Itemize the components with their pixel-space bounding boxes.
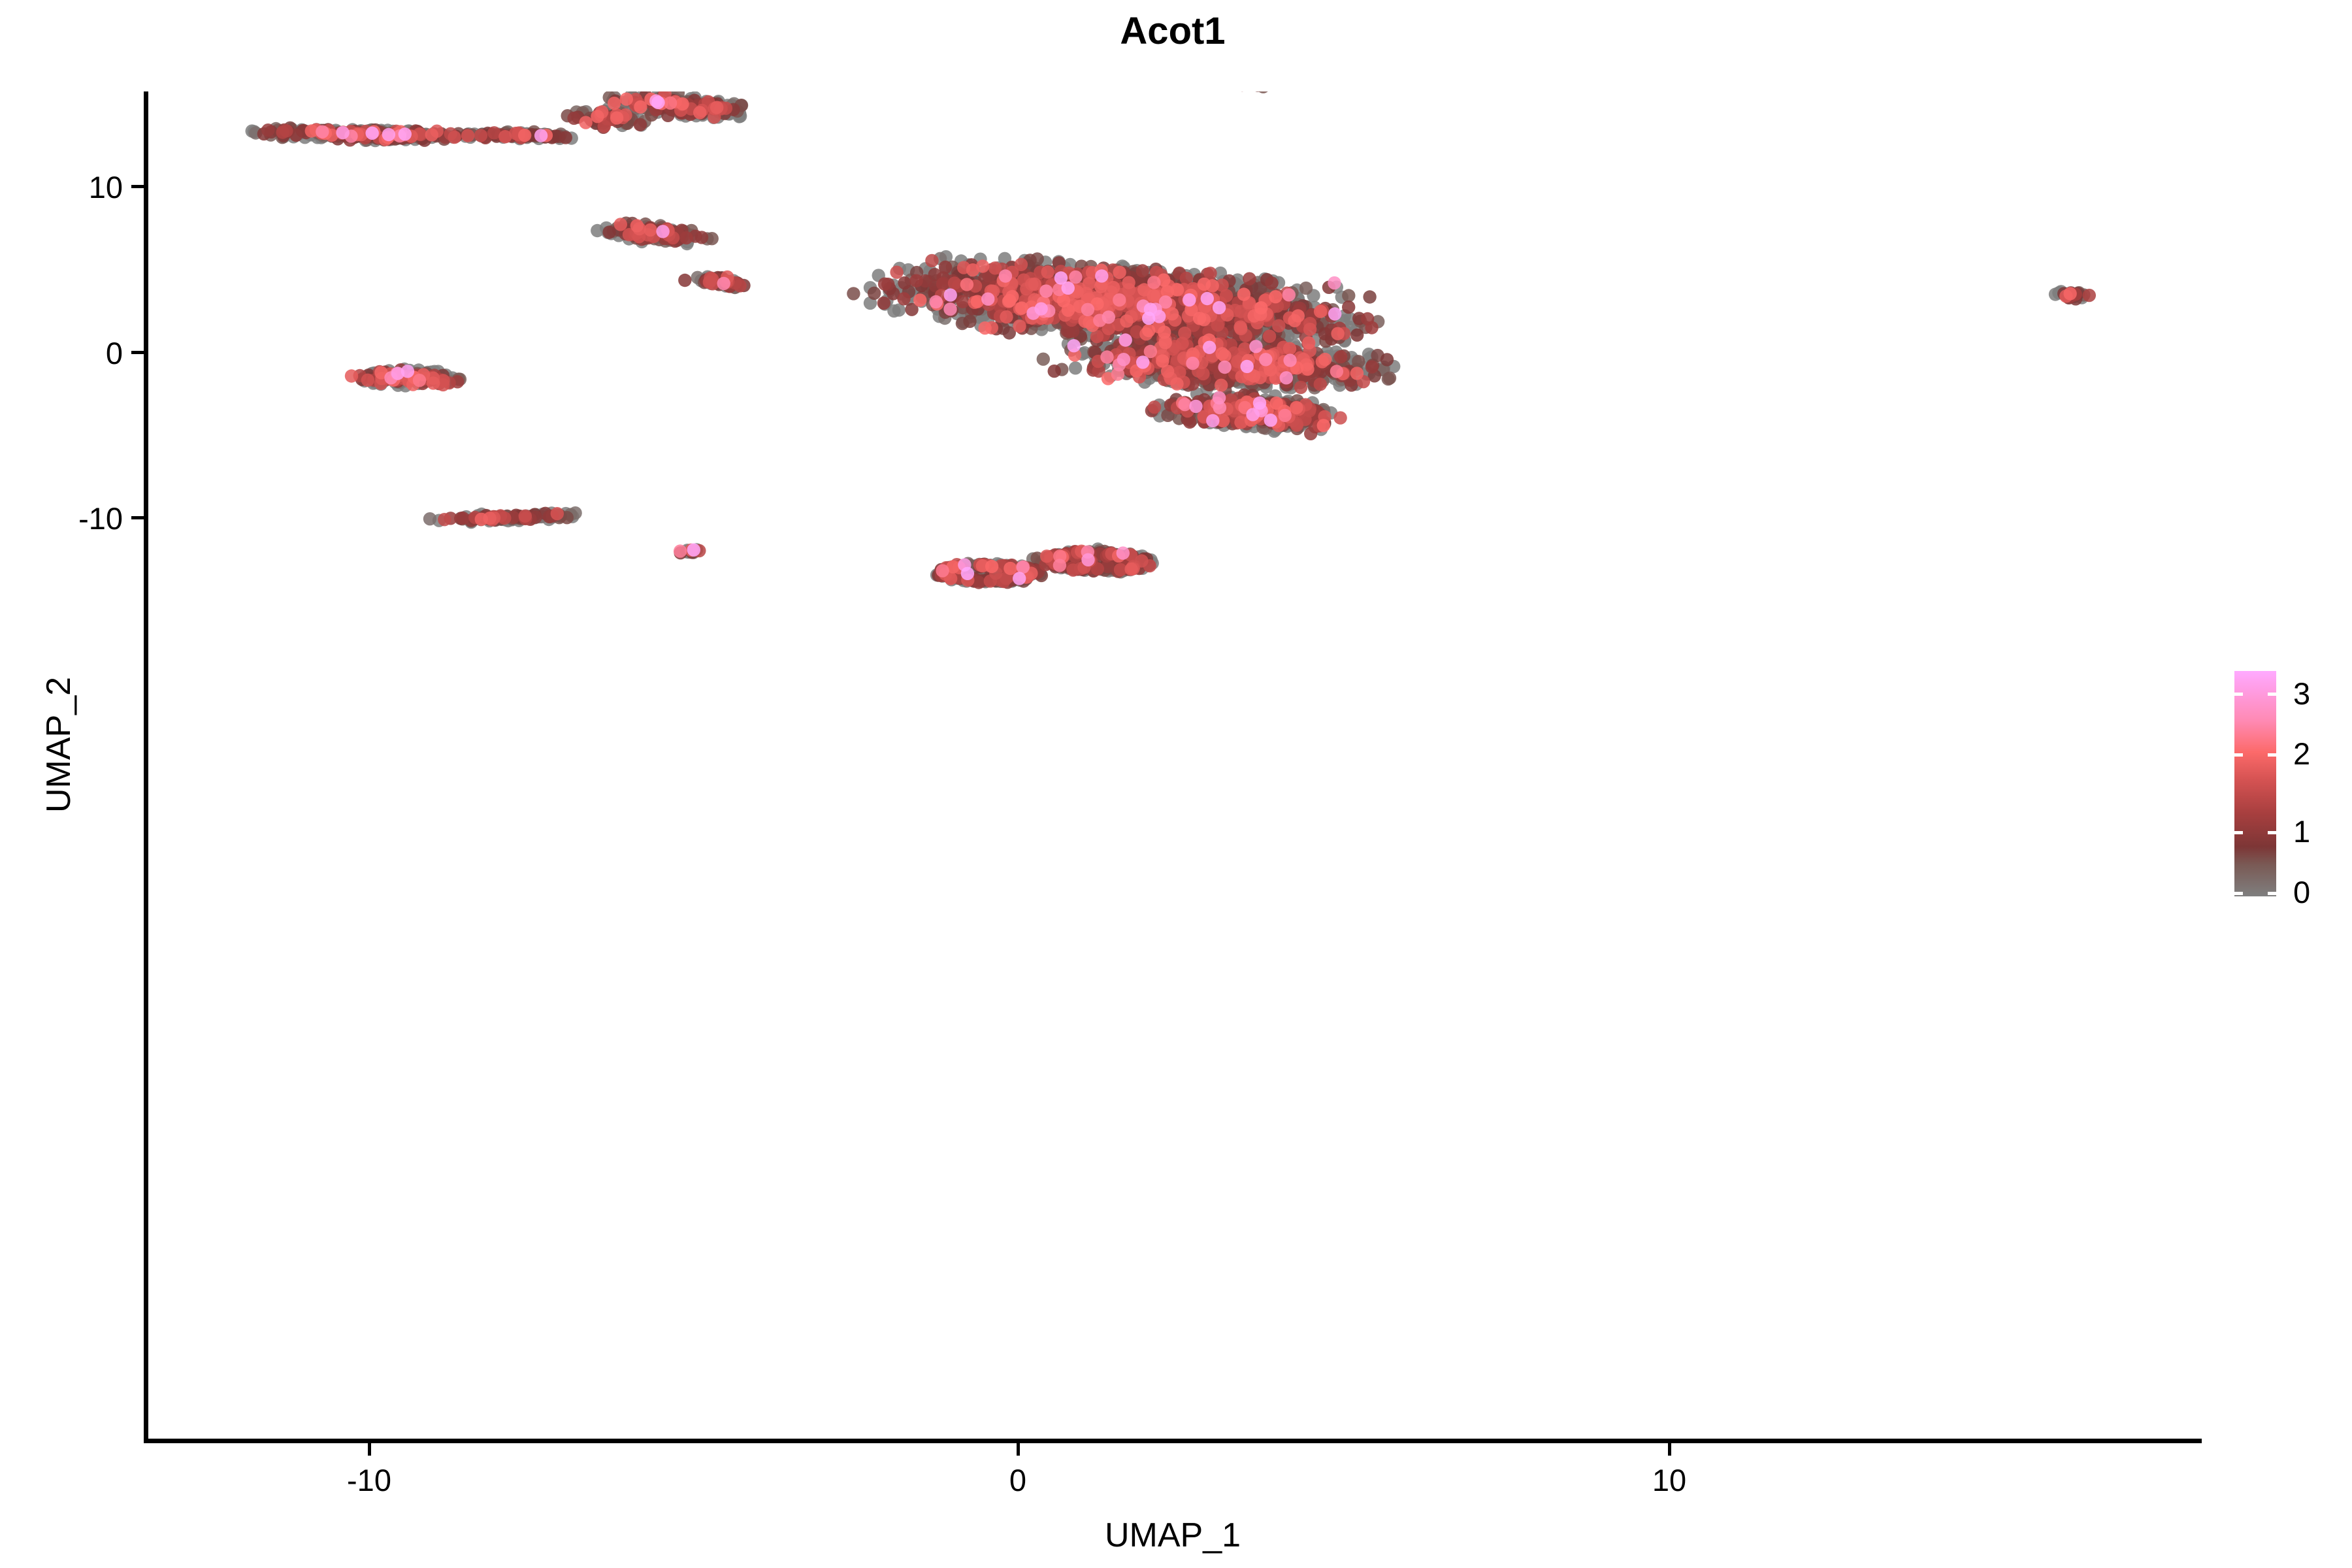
y-tick-label-0: 0: [5, 335, 123, 371]
x-tick-mark-10: [1668, 1443, 1671, 1456]
legend-colorbar: 3 2 1 0: [2234, 666, 2339, 902]
y-tick-mark--10: [131, 516, 144, 519]
scatter-plot-panel: [144, 91, 2202, 1441]
x-tick-label--10: -10: [291, 1462, 448, 1498]
y-tick-mark-0: [131, 351, 144, 354]
colorbar-tick-3-left: [2234, 693, 2243, 696]
colorbar-tick-0-left: [2234, 892, 2243, 895]
legend-label-3: 3: [2293, 678, 2310, 709]
y-axis-line: [144, 91, 148, 1443]
colorbar-tick-0-right: [2268, 892, 2276, 895]
x-tick-mark--10: [368, 1443, 371, 1456]
page-title: Acot1: [1120, 10, 1225, 52]
scatter-points-layer: [144, 91, 2202, 1441]
legend-label-0: 0: [2293, 877, 2310, 907]
x-tick-label-10: 10: [1591, 1462, 1748, 1498]
x-tick-mark-0: [1017, 1443, 1020, 1456]
colorbar-tick-1-left: [2234, 831, 2243, 834]
colorbar-tick-3-right: [2268, 693, 2276, 696]
colorbar-tick-2-right: [2268, 753, 2276, 757]
x-tick-label-0: 0: [939, 1462, 1096, 1498]
y-tick-label-10: 10: [5, 169, 123, 205]
colorbar-tick-1-right: [2268, 831, 2276, 834]
x-axis-line: [144, 1439, 2202, 1443]
legend-label-2: 2: [2293, 738, 2310, 769]
legend-label-1: 1: [2293, 816, 2310, 847]
x-axis-title: UMAP_1: [144, 1516, 2202, 1555]
plot-title-container: Acot1: [144, 9, 2202, 53]
y-tick-mark-10: [131, 185, 144, 188]
y-axis-title: UMAP_2: [39, 516, 78, 973]
colorbar-gradient: [2234, 671, 2276, 896]
figure-root: Acot1 10 0 -10 -10 0 10 UMAP_1 UMAP_2 3 …: [0, 0, 2352, 1568]
colorbar-tick-2-left: [2234, 753, 2243, 757]
